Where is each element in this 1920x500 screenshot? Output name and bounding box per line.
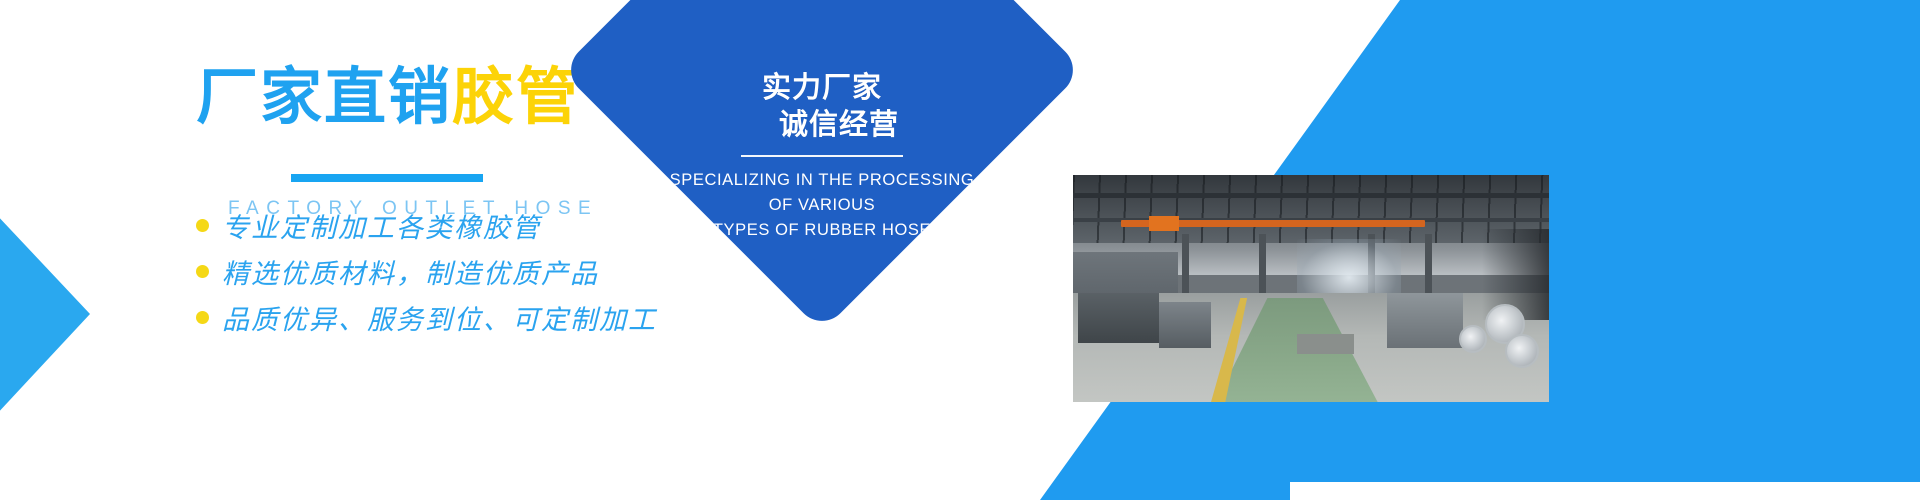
photo-machinery [1387, 293, 1463, 347]
bullet-dot-icon [196, 219, 209, 232]
diamond-subtitle-line1: SPECIALIZING IN THE PROCESSING [657, 168, 987, 193]
bullet-dot-icon [196, 265, 209, 278]
headline-highlight: 胶管 [452, 60, 580, 133]
diamond-headline: 实力厂家 诚信经营 [745, 69, 899, 143]
background-bottom-white-strip [1290, 482, 1920, 500]
diamond-divider [741, 155, 903, 157]
photo-hose-coil [1459, 325, 1487, 353]
list-item: 专业定制加工各类橡胶管 [196, 204, 657, 246]
diamond-headline-line1: 实力厂家 [762, 70, 882, 104]
diamond-headline-line2: 诚信经营 [745, 106, 899, 143]
list-item: 精选优质材料，制造优质产品 [196, 250, 657, 292]
bullet-dot-icon [196, 311, 209, 324]
background-left-chevron-arrow [0, 212, 144, 417]
title-underline-rule [291, 174, 483, 182]
photo-machinery [1078, 293, 1159, 343]
list-item-label: 品质优异、服务到位、可定制加工 [222, 298, 657, 337]
photo-roof-beam-upper [1073, 193, 1549, 198]
feature-bullet-list: 专业定制加工各类橡胶管 精选优质材料，制造优质产品 品质优异、服务到位、可定制加… [196, 200, 657, 338]
photo-machinery [1159, 302, 1211, 347]
headline-primary: 厂家直销 [196, 60, 452, 133]
photo-pallet [1297, 334, 1354, 354]
diamond-subtitle-line2: OF VARIOUS [657, 193, 987, 218]
photo-roof-trusses [1073, 175, 1549, 243]
list-item-label: 精选优质材料，制造优质产品 [222, 252, 599, 291]
promo-banner: 厂家直销胶管 FACTORY OUTLET HOSE 专业定制加工各类橡胶管 精… [0, 0, 1920, 500]
photo-crane-trolley [1149, 216, 1179, 231]
list-item: 品质优异、服务到位、可定制加工 [196, 296, 657, 338]
factory-photo [1073, 175, 1549, 402]
list-item-label: 专业定制加工各类橡胶管 [222, 206, 541, 245]
